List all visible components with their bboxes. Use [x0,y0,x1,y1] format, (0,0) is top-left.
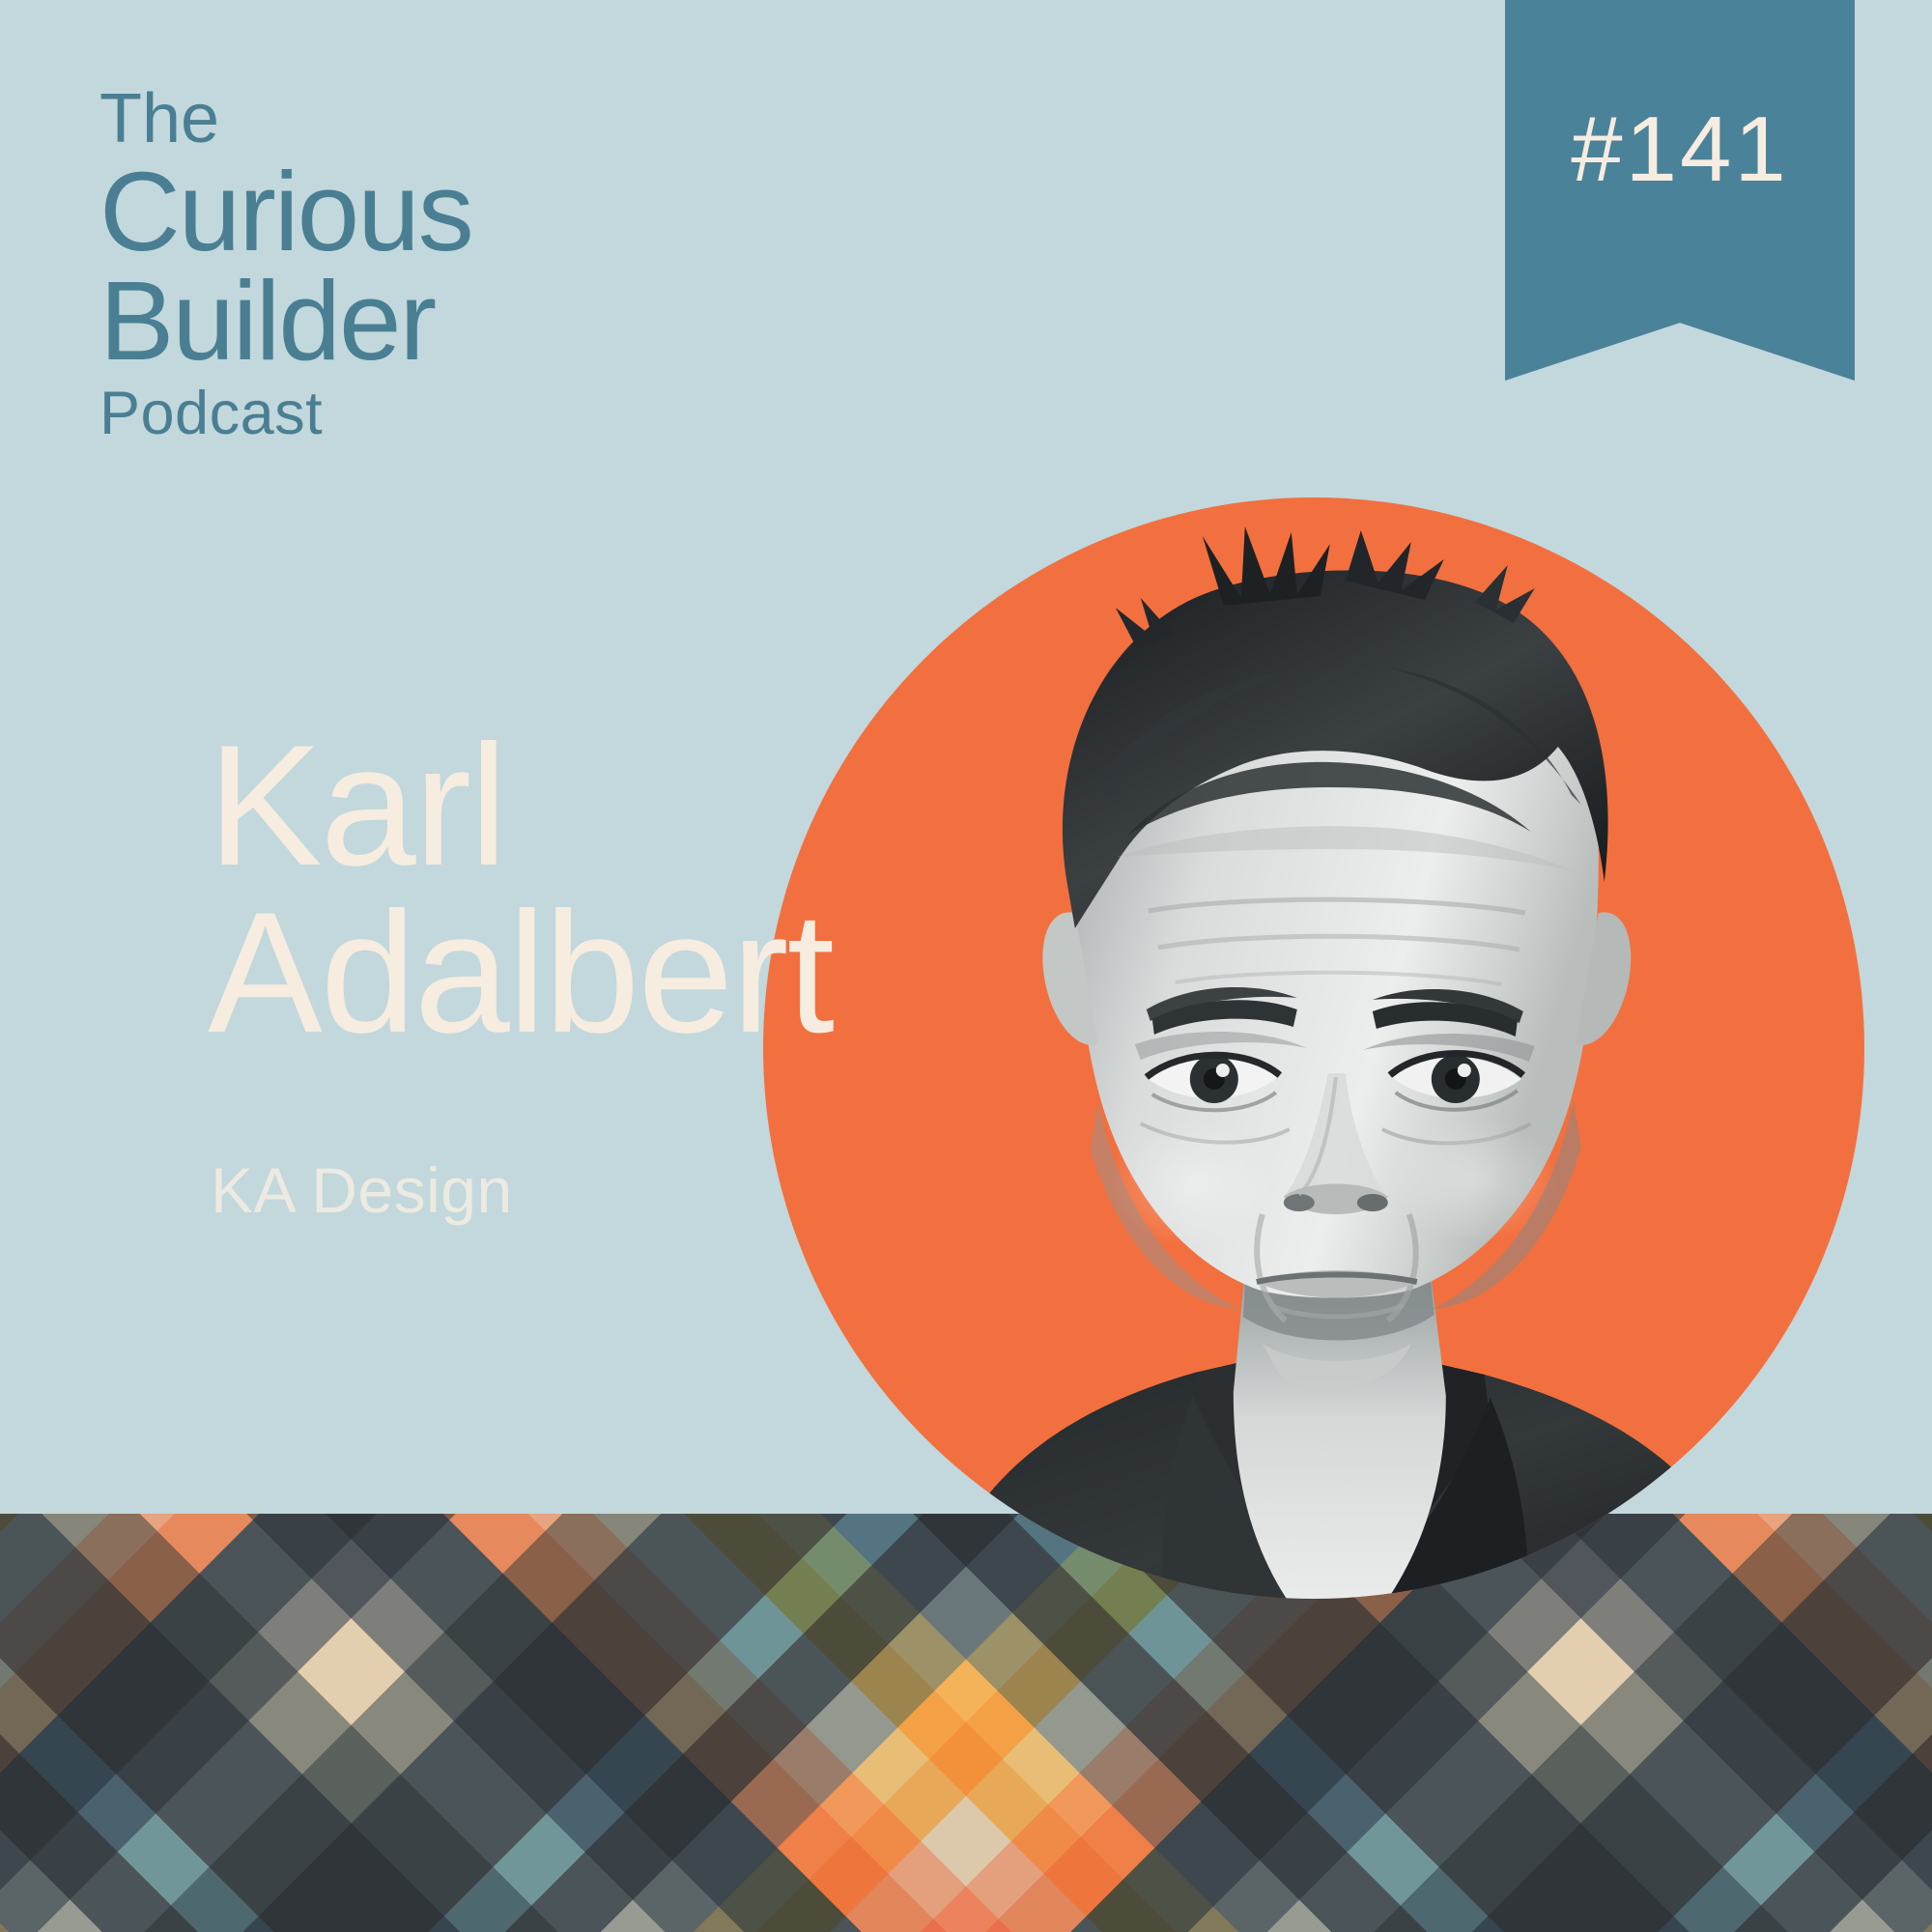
guest-company: KA Design [211,1153,513,1227]
guest-portrait-circle [763,497,1864,1599]
guest-portrait-photo [809,497,1861,1599]
logo-line-builder: Builder [99,267,472,377]
episode-number-label: #141 [1571,97,1789,203]
guest-last-name: Adalbert [208,890,833,1057]
logo-line-the: The [99,85,472,154]
logo-line-podcast: Podcast [99,384,472,444]
guest-first-name: Karl [208,723,833,890]
podcast-cover-art: The Curious Builder Podcast #141 [0,0,1932,1932]
episode-number-ribbon: #141 [1505,0,1855,381]
show-logo: The Curious Builder Podcast [99,85,472,444]
logo-line-curious: Curious [99,157,472,268]
guest-name: Karl Adalbert [208,723,833,1056]
